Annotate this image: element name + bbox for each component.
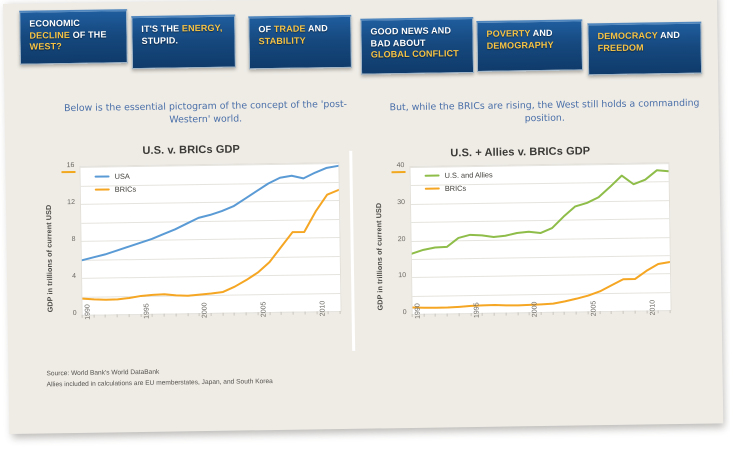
chart-us-allies-v-brics: U.S. + Allies v. BRICs GDP GDP in trilli…: [357, 144, 686, 361]
nav-tab-word: IT'S THE: [141, 23, 182, 34]
chart-x-tick-mark: [482, 313, 483, 316]
nav-tab-poverty-and-demography[interactable]: POVERTY AND DEMOGRAPHY: [476, 19, 583, 72]
nav-tab-economic-decline-of-the-west[interactable]: ECONOMIC DECLINE OF THE WEST?: [19, 9, 128, 65]
chart-x-tick-mark: [658, 310, 659, 313]
nav-tab-word: ECONOMIC: [29, 18, 80, 29]
chart-x-tick-mark: [211, 313, 212, 316]
chart-y-tick-label: 0: [51, 310, 77, 317]
nav-tab-its-the-energy-stupid[interactable]: IT'S THE ENERGY, STUPID.: [131, 15, 236, 70]
chart-x-tick-label: 2010: [649, 300, 656, 316]
chart-right-plot-area: U.S. and AlliesBRICs: [409, 162, 671, 315]
chart-x-tick-mark: [623, 311, 624, 314]
chart-x-tick-mark: [599, 311, 600, 314]
chart-y-tick-label: 12: [49, 199, 75, 206]
nav-tab-democracy-and-freedom[interactable]: DEMOCRACY AND FREEDOM: [587, 22, 702, 76]
nav-tab-word: AND: [660, 30, 680, 40]
chart-x-tick-label: 2005: [590, 301, 597, 317]
chart-x-tick-mark: [93, 315, 94, 318]
chart-x-tick-mark: [187, 313, 188, 316]
caption-right: But, while the BRICs are rising, the Wes…: [384, 97, 704, 128]
chart-x-tick-mark: [634, 311, 635, 314]
chart-right-y-axis-label: GDP in trillions of current USD: [374, 203, 385, 311]
chart-x-tick-mark: [611, 311, 612, 314]
nav-tab-word: GOOD NEWS AND: [370, 25, 451, 36]
nav-tab-word: WEST?: [30, 41, 62, 51]
chart-x-tick-label: 1995: [143, 303, 150, 319]
chart-x-tick-mark: [412, 314, 413, 317]
chart-x-tick-mark: [117, 314, 118, 317]
chart-x-tick-mark: [552, 312, 553, 315]
chart-left-plot-area: USABRICs: [79, 162, 341, 316]
chart-x-tick-mark: [670, 310, 671, 313]
legend-swatch-icon: [95, 175, 110, 178]
chart-x-tick-mark: [470, 313, 471, 316]
chart-y-tick-label: 4: [50, 273, 76, 280]
chart-y-axis-accent: [61, 171, 75, 173]
nav-tab-word: BAD ABOUT: [371, 37, 426, 48]
chart-y-tick-label: 8: [49, 236, 75, 243]
nav-tab-word: POVERTY: [486, 28, 532, 39]
chart-x-tick-mark: [447, 313, 448, 316]
nav-tab-word: STUPID.: [141, 35, 178, 46]
chart-x-tick-mark: [199, 313, 200, 316]
chart-right-title: U.S. + Allies v. BRICs GDP: [357, 144, 683, 161]
nav-tab-good-news-and-bad-about-global-conflict[interactable]: GOOD NEWS AND BAD ABOUT GLOBAL CONFLICT: [360, 17, 474, 75]
nav-tab-word: FREEDOM: [598, 42, 644, 53]
section-tab-bar: ECONOMIC DECLINE OF THE WEST? IT'S THE E…: [3, 0, 718, 92]
chart-x-tick-mark: [588, 311, 589, 314]
chart-x-tick-mark: [105, 315, 106, 318]
nav-tab-word: GLOBAL CONFLICT: [371, 48, 459, 59]
nav-tab-word: DEMOGRAPHY: [487, 39, 554, 50]
legend-label: USA: [115, 172, 130, 181]
chart-x-tick-mark: [293, 312, 294, 315]
nav-tab-word: OF: [258, 24, 274, 34]
legend-swatch-icon: [95, 188, 110, 191]
nav-tab-word: DEMOCRACY: [597, 30, 660, 41]
chart-x-tick-mark: [129, 314, 130, 317]
chart-y-tick-label: 16: [48, 162, 74, 169]
nav-tab-word: STABILITY: [258, 35, 305, 46]
chart-x-tick-mark: [340, 311, 341, 314]
chart-x-tick-mark: [281, 312, 282, 315]
chart-x-tick-mark: [246, 312, 247, 315]
chart-y-tick-label: 20: [379, 236, 405, 243]
chart-series-line: [412, 262, 671, 308]
legend-swatch-icon: [425, 174, 440, 177]
chart-x-tick-label: 2010: [319, 301, 326, 317]
chart-y-axis-accent: [392, 171, 406, 173]
chart-legend-item: BRICs: [95, 184, 136, 194]
chart-x-tick-mark: [234, 313, 235, 316]
caption-left: Below is the essential pictogram of the …: [44, 98, 366, 129]
chart-us-v-brics: U.S. v. BRICs GDP GDP in trillions of cu…: [31, 142, 354, 362]
nav-tab-of-trade-and-stability[interactable]: OF TRADE AND STABILITY: [248, 15, 352, 70]
chart-x-tick-label: 1990: [84, 304, 91, 320]
chart-x-tick-mark: [423, 314, 424, 317]
nav-tab-word: TRADE: [274, 23, 308, 34]
chart-x-tick-mark: [505, 313, 506, 316]
chart-x-tick-mark: [435, 314, 436, 317]
chart-x-tick-mark: [328, 311, 329, 314]
chart-x-tick-mark: [646, 310, 647, 313]
chart-x-tick-label: 2005: [260, 302, 267, 318]
chart-x-tick-mark: [175, 313, 176, 316]
chart-x-tick-label: 2000: [202, 302, 209, 318]
chart-y-tick-label: 40: [378, 162, 404, 169]
nav-tab-word: AND: [533, 28, 553, 38]
chart-x-tick-mark: [82, 315, 83, 318]
chart-x-tick-mark: [494, 313, 495, 316]
chart-x-tick-mark: [222, 313, 223, 316]
legend-swatch-icon: [425, 187, 440, 190]
chart-x-tick-label: 2000: [532, 302, 539, 318]
chart-x-tick-label: 1990: [414, 303, 421, 319]
legend-label: U.S. and Allies: [445, 170, 493, 180]
legend-label: BRICs: [115, 185, 136, 194]
article-sheet: ECONOMIC DECLINE OF THE WEST? IT'S THE E…: [3, 0, 723, 434]
chart-legend-item: BRICs: [425, 183, 466, 193]
chart-x-tick-label: 1995: [473, 302, 480, 318]
chart-y-tick-label: 10: [380, 272, 406, 279]
chart-x-tick-mark: [304, 312, 305, 315]
nav-tab-word: OF THE: [73, 29, 107, 40]
chart-y-tick-label: 30: [379, 199, 405, 206]
chart-x-tick-mark: [529, 312, 530, 315]
source-footnote: Source: World Bank's World DataBank Alli…: [46, 366, 272, 390]
chart-legend-item: USA: [94, 171, 129, 181]
chart-y-tick-label: 0: [381, 309, 407, 316]
chart-x-tick-mark: [564, 312, 565, 315]
nav-tab-word: ENERGY,: [182, 23, 223, 34]
chart-x-tick-mark: [541, 312, 542, 315]
chart-x-tick-mark: [517, 312, 518, 315]
chart-x-tick-mark: [140, 314, 141, 317]
nav-tab-word: AND: [308, 23, 328, 33]
legend-label: BRICs: [445, 184, 466, 193]
chart-x-tick-mark: [152, 314, 153, 317]
chart-legend-item: U.S. and Allies: [425, 170, 493, 181]
chart-x-tick-mark: [316, 311, 317, 314]
chart-x-tick-mark: [269, 312, 270, 315]
chart-left-title: U.S. v. BRICs GDP: [31, 142, 351, 159]
nav-tab-word: DECLINE: [29, 29, 72, 40]
chart-x-tick-mark: [258, 312, 259, 315]
chart-x-tick-mark: [459, 313, 460, 316]
chart-x-tick-mark: [576, 312, 577, 315]
chart-left-y-axis-label: GDP in trillions of current USD: [44, 205, 55, 313]
chart-x-tick-mark: [164, 314, 165, 317]
chart-series-line: [81, 190, 341, 300]
